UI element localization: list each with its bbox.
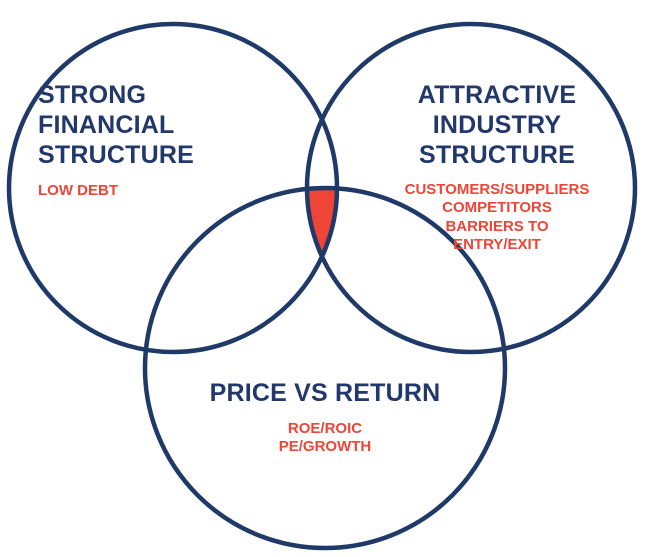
venn-diagram: STRONG FINANCIAL STRUCTURE LOW DEBT ATTR… — [0, 0, 649, 557]
list-item: COMPETITORS — [372, 199, 622, 217]
label-price-vs-return: PRICE VS RETURN ROE/ROIC PE/GROWTH — [160, 378, 490, 457]
list-item: LOW DEBT — [38, 182, 268, 200]
heading-price-vs-return: PRICE VS RETURN — [160, 378, 490, 408]
heading-line-3: STRUCTURE — [38, 140, 268, 170]
list-item: ROE/ROIC — [160, 420, 490, 438]
items-price-vs-return: ROE/ROIC PE/GROWTH — [160, 420, 490, 457]
heading-line-1: PRICE VS RETURN — [160, 378, 490, 408]
list-item: ENTRY/EXIT — [372, 236, 622, 254]
heading-strong-financial-structure: STRONG FINANCIAL STRUCTURE — [38, 80, 268, 170]
heading-line-1: ATTRACTIVE — [372, 80, 622, 110]
list-item: BARRIERS TO — [372, 218, 622, 236]
heading-line-1: STRONG — [38, 80, 268, 110]
heading-line-2: FINANCIAL — [38, 110, 268, 140]
items-strong-financial-structure: LOW DEBT — [38, 182, 268, 200]
heading-attractive-industry-structure: ATTRACTIVE INDUSTRY STRUCTURE — [372, 80, 622, 170]
label-strong-financial-structure: STRONG FINANCIAL STRUCTURE LOW DEBT — [38, 80, 268, 200]
heading-line-2: INDUSTRY — [372, 110, 622, 140]
label-attractive-industry-structure: ATTRACTIVE INDUSTRY STRUCTURE CUSTOMERS/… — [372, 80, 622, 254]
items-attractive-industry-structure: CUSTOMERS/SUPPLIERS COMPETITORS BARRIERS… — [372, 181, 622, 254]
list-item: PE/GROWTH — [160, 438, 490, 456]
heading-line-3: STRUCTURE — [372, 140, 622, 170]
list-item: CUSTOMERS/SUPPLIERS — [372, 181, 622, 199]
